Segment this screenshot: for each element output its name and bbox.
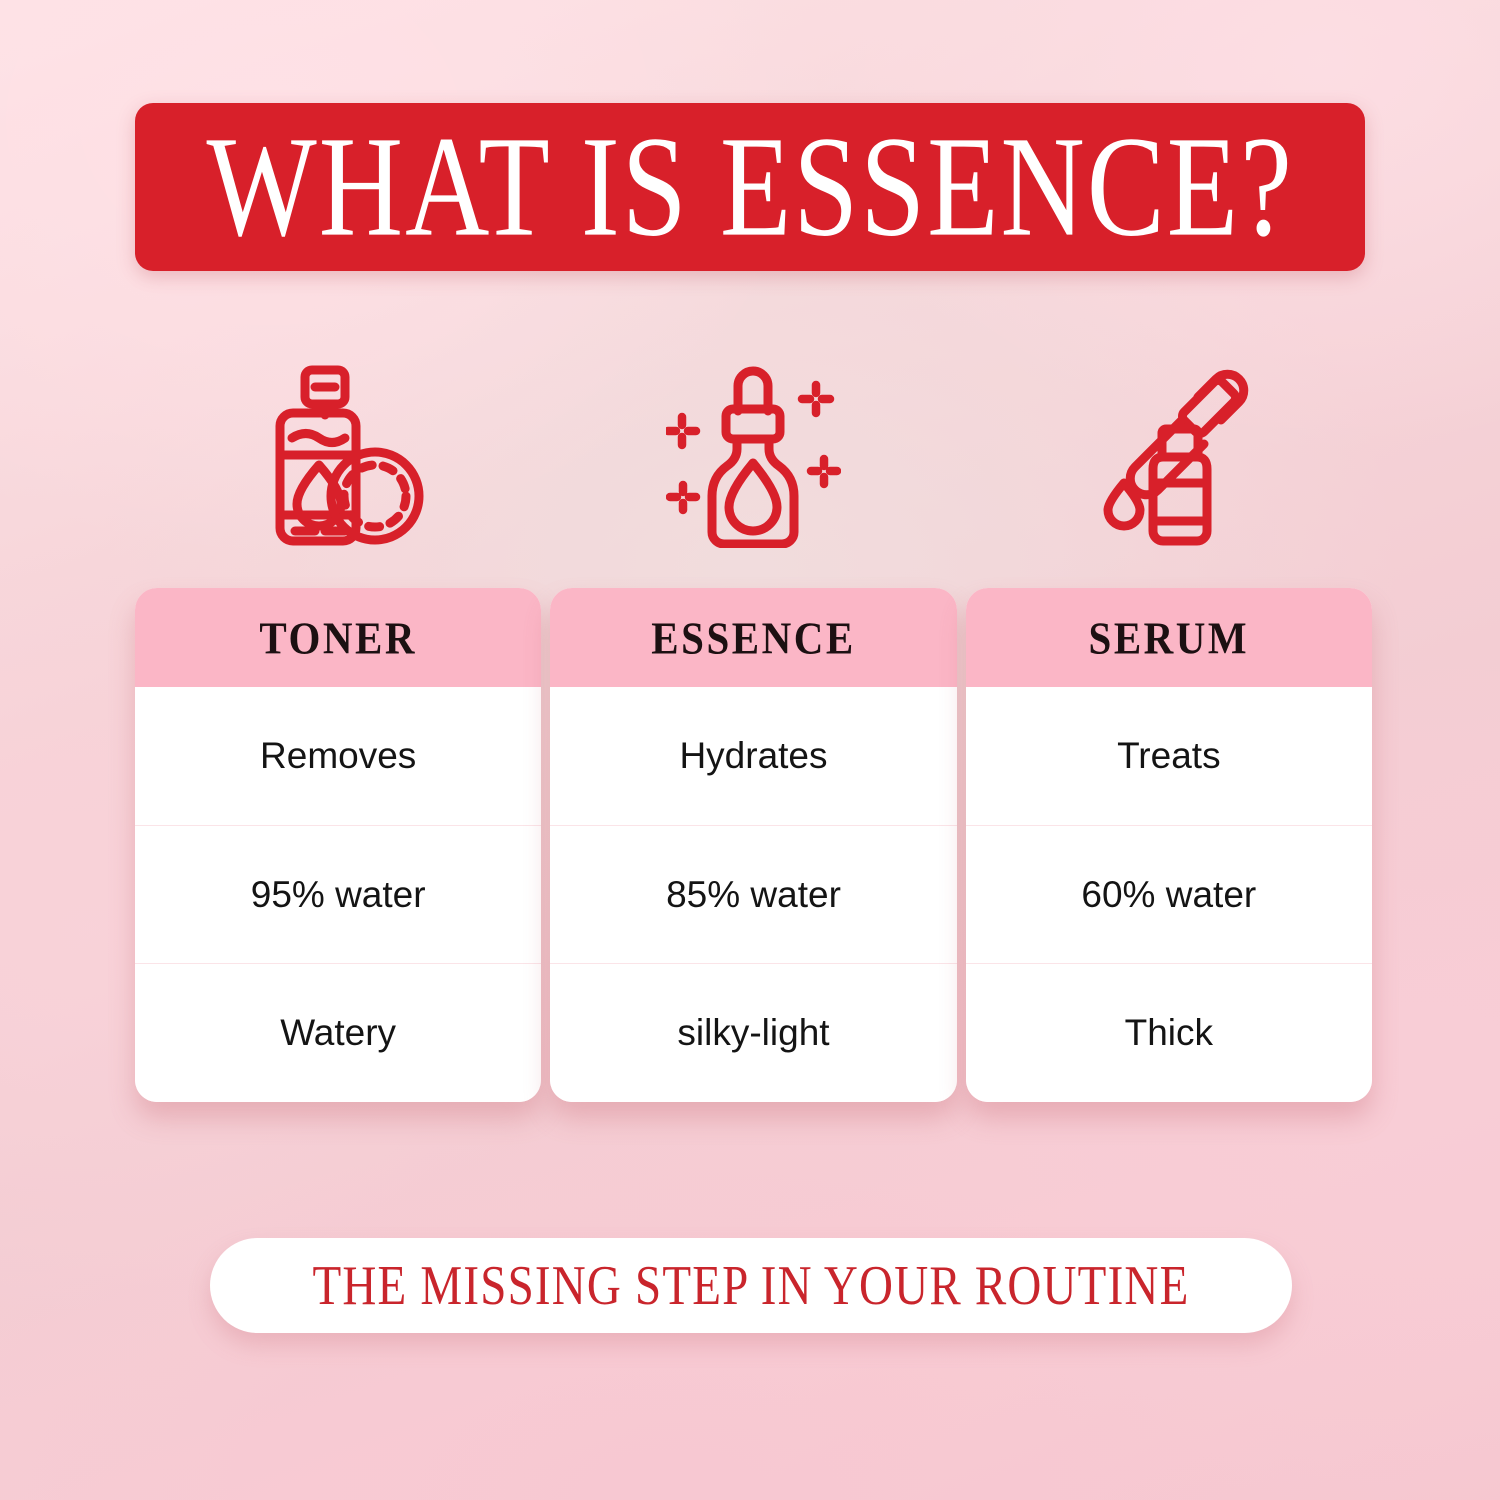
footer-tagline-pill: THE MISSING STEP IN YOUR ROUTINE	[210, 1238, 1292, 1333]
sparkle-icon	[670, 485, 696, 510]
column-body-serum: Treats 60% water Thick	[966, 687, 1372, 1102]
icon-cell-toner	[135, 355, 547, 555]
essence-dropper-bottle-sparkle-icon	[666, 363, 841, 548]
toner-bottle-cotton-pad-icon	[259, 363, 424, 548]
infographic-page: WHAT IS ESSENCE?	[0, 0, 1500, 1500]
comparison-column-serum: SERUM Treats 60% water Thick	[966, 588, 1372, 1102]
icon-cell-essence	[547, 355, 959, 555]
column-header-label: SERUM	[1089, 611, 1250, 665]
column-header-label: TONER	[259, 611, 417, 665]
column-header-label: ESSENCE	[651, 611, 855, 665]
comparison-column-essence: ESSENCE Hydrates 85% water silky-light	[550, 588, 956, 1102]
comparison-table: TONER Removes 95% water Watery ESSENCE H…	[135, 588, 1372, 1102]
sparkle-icon	[802, 385, 830, 413]
icons-row	[135, 355, 1372, 555]
table-cell: Removes	[135, 687, 541, 826]
table-cell: 60% water	[966, 826, 1372, 965]
column-body-essence: Hydrates 85% water silky-light	[550, 687, 956, 1102]
table-cell: Treats	[966, 687, 1372, 826]
column-header-serum: SERUM	[966, 588, 1372, 687]
column-header-toner: TONER	[135, 588, 541, 687]
page-title: WHAT IS ESSENCE?	[206, 115, 1293, 259]
sparkle-icon	[811, 459, 837, 484]
comparison-column-toner: TONER Removes 95% water Watery	[135, 588, 541, 1102]
icon-cell-serum	[960, 355, 1372, 555]
table-cell: Hydrates	[550, 687, 956, 826]
column-header-essence: ESSENCE	[550, 588, 956, 687]
column-body-toner: Removes 95% water Watery	[135, 687, 541, 1102]
table-cell: Watery	[135, 964, 541, 1102]
title-banner: WHAT IS ESSENCE?	[135, 103, 1365, 271]
serum-pipette-bottle-icon	[1078, 363, 1253, 548]
footer-tagline: THE MISSING STEP IN YOUR ROUTINE	[313, 1253, 1190, 1318]
table-cell: Thick	[966, 964, 1372, 1102]
table-cell: silky-light	[550, 964, 956, 1102]
table-cell: 85% water	[550, 826, 956, 965]
sparkle-icon	[668, 417, 696, 445]
table-cell: 95% water	[135, 826, 541, 965]
